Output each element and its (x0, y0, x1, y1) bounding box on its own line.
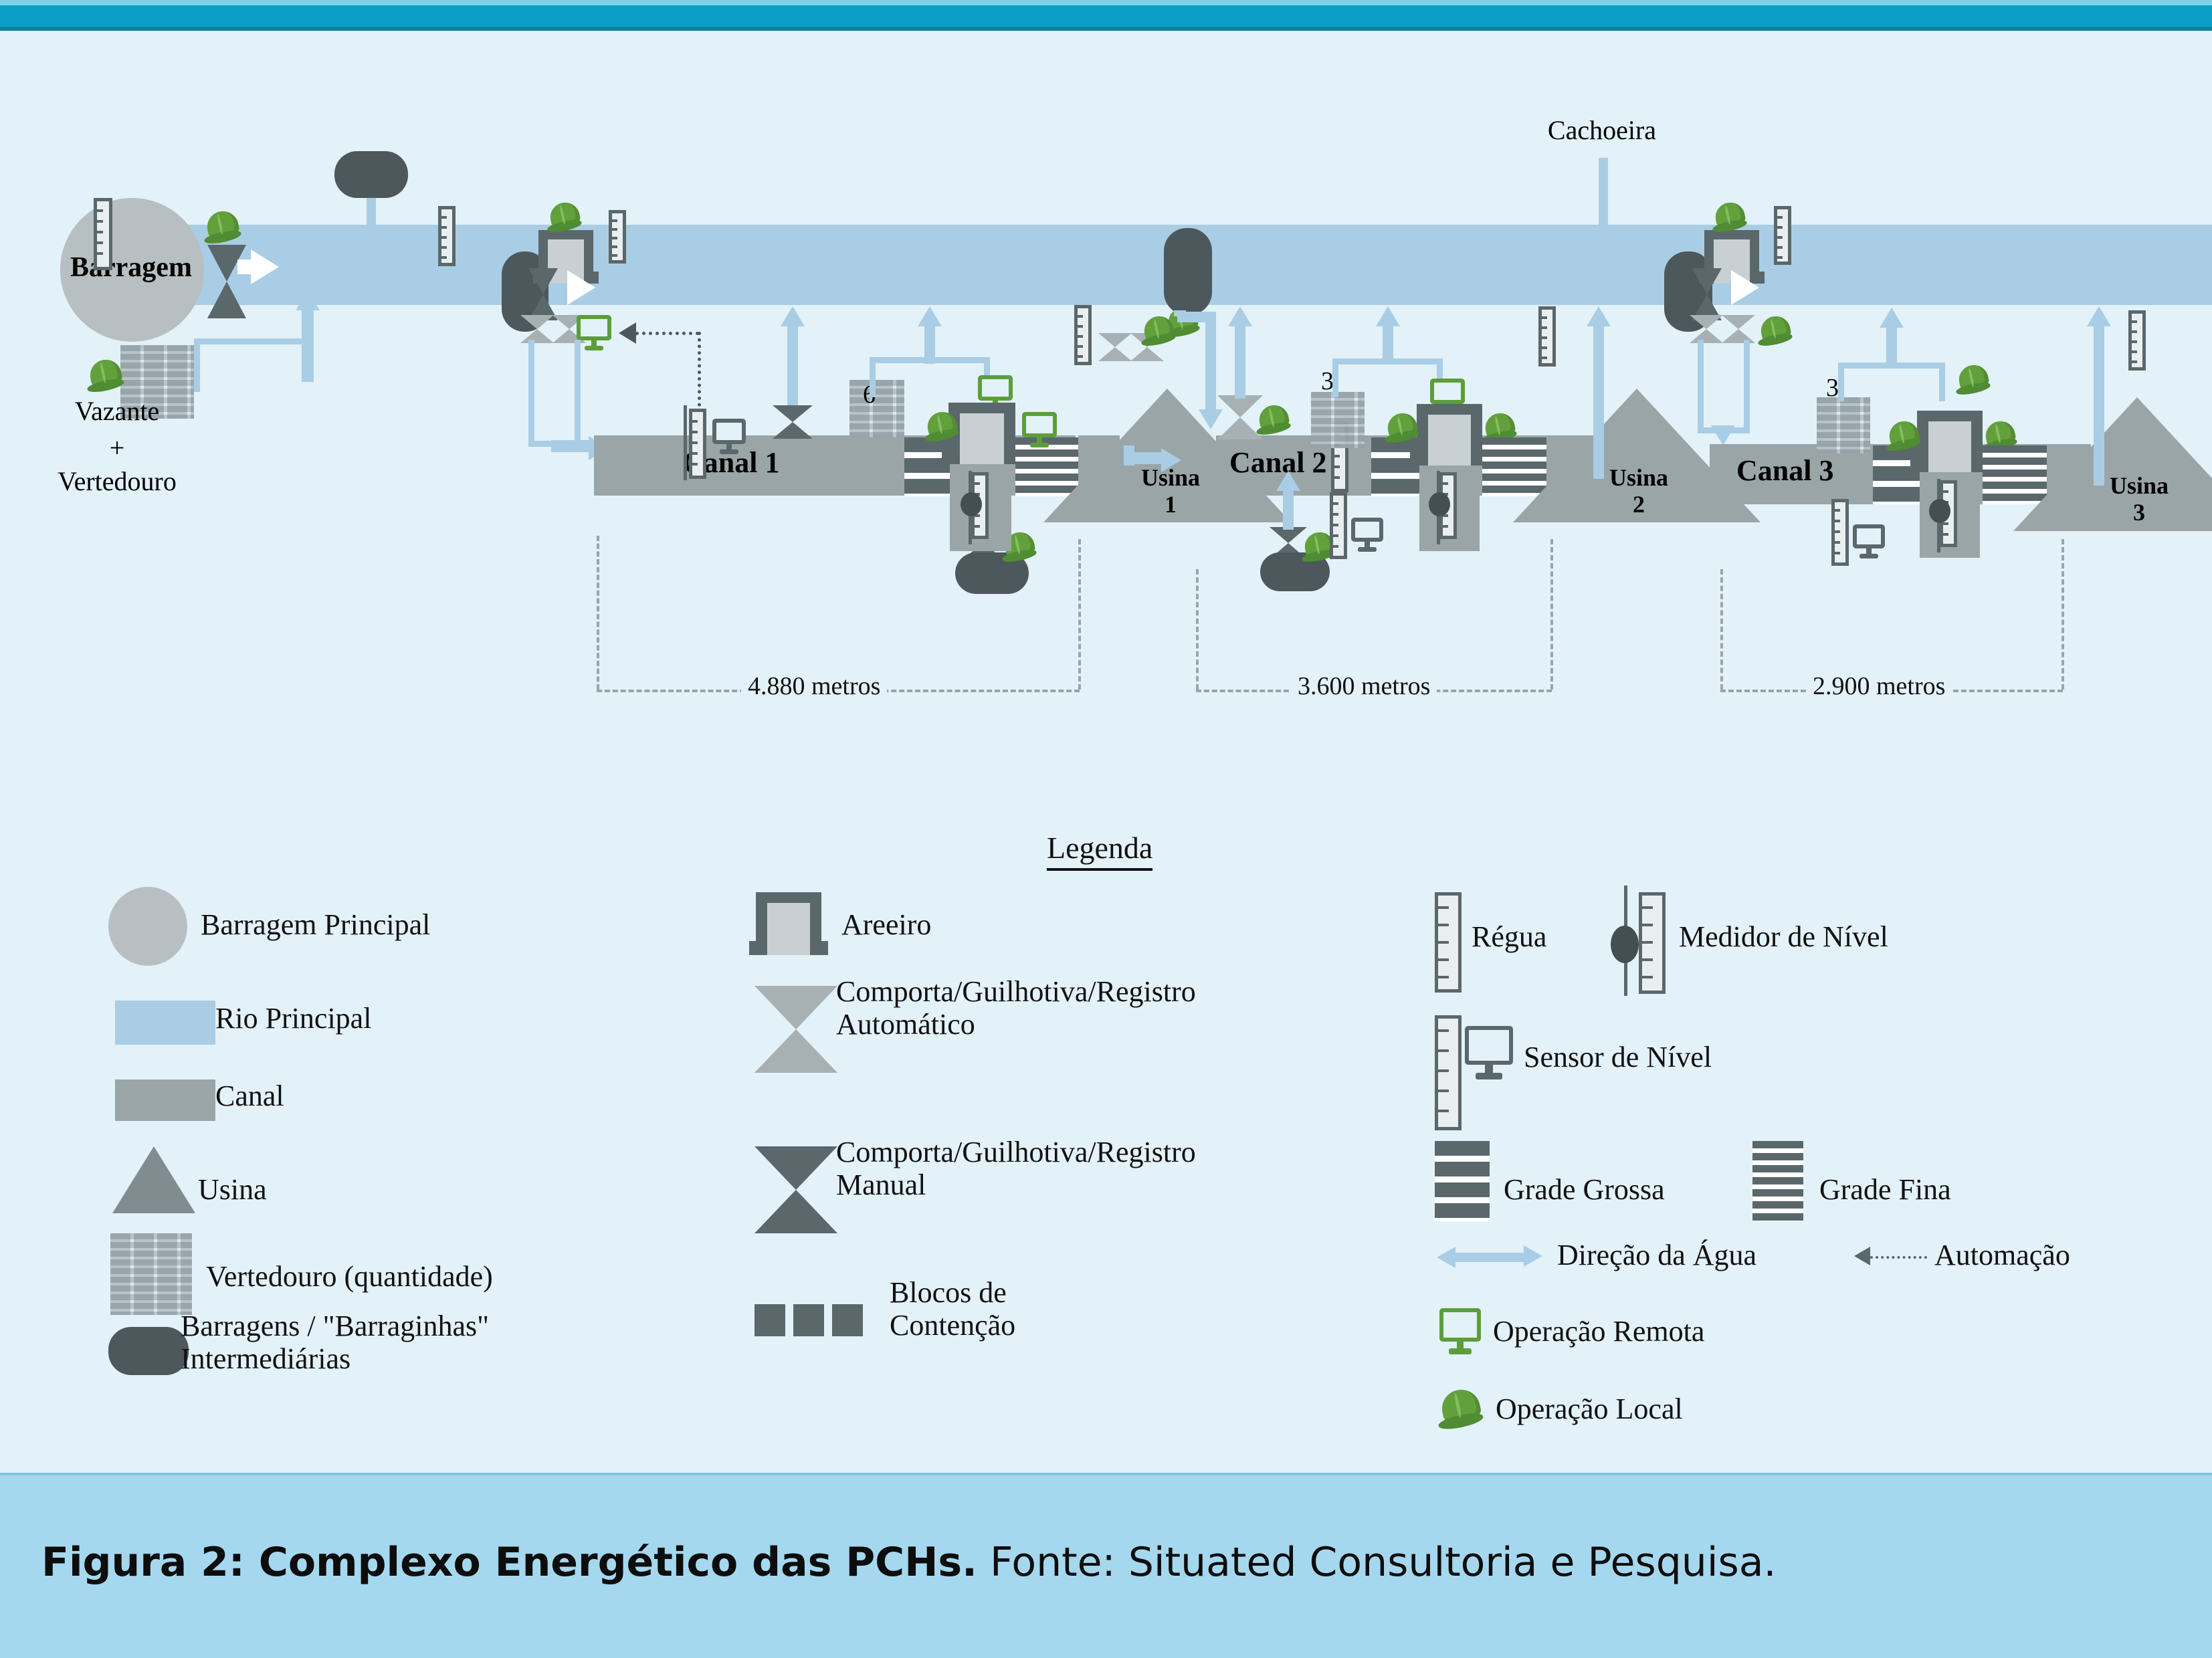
legend-title: Legenda (1047, 830, 1152, 871)
legend-item-label: Rio Principal (215, 1002, 371, 1035)
water-direction-line (924, 325, 935, 364)
water-direction-line (1235, 325, 1245, 399)
water-direction-arrow-icon (1880, 308, 1904, 328)
local-operation-helmet-icon (1886, 420, 1921, 451)
page-top-accent-bar (0, 0, 2212, 31)
ruler-icon (689, 409, 706, 479)
ruler-icon (438, 206, 456, 266)
level-sensor-icon (1853, 524, 1885, 559)
ruler-icon (1774, 206, 1791, 265)
water-direction-arrow-icon (2087, 306, 2111, 326)
local-operation-helmet-icon (1956, 364, 1991, 395)
dam-label: Barragem (70, 251, 192, 284)
legend-item-label: Sensor de Nível (1524, 1041, 1712, 1073)
automation-line (1870, 1256, 1927, 1259)
level-meter-icon (961, 492, 982, 516)
legend-item-label: Operação Local (1496, 1392, 1683, 1425)
legend-auto-gate-line1: Comporta/Guilhotiva/Registro (836, 975, 1196, 1008)
manual-gate-icon (1692, 268, 1722, 320)
water-direction-line (237, 260, 264, 274)
dimension-tick (2062, 539, 2064, 690)
level-meter-icon (1611, 926, 1639, 963)
manual-gate-icon (755, 1146, 837, 1233)
legend-item-label: Blocos de Contenção (890, 1276, 1358, 1342)
sand-trap-icon (1917, 411, 1983, 472)
automation-arrow-icon (1854, 1247, 1870, 1265)
water-direction-arrow-icon (1451, 1253, 1525, 1262)
ruler-icon (1538, 306, 1556, 367)
water-direction-arrow-icon (781, 306, 805, 326)
spillway-label-line3: Vertedouro (27, 465, 207, 497)
usina-2-name: Usina (1609, 464, 1668, 491)
intermediate-dam-icon (1164, 228, 1212, 315)
dimension-tick (1078, 539, 1081, 690)
spillway-label-line1: Vazante (40, 395, 194, 427)
water-direction-arrow-icon (1524, 1245, 1542, 1267)
legend-item-label: Direção da Água (1557, 1239, 1756, 1271)
ruler-icon (1330, 492, 1347, 559)
waterfall-label: Cachoeira (1492, 114, 1712, 146)
legend-item-label: Areeiro (841, 908, 931, 941)
legend-manual-gate-line1: Comporta/Guilhotiva/Registro (836, 1136, 1196, 1168)
local-operation-helmet-icon (1256, 404, 1291, 435)
legend-item-label: Vertedouro (quantidade) (206, 1260, 493, 1293)
water-direction-line (1177, 312, 1212, 322)
ruler-icon (94, 198, 112, 270)
containment-blocks-icon (832, 1304, 863, 1336)
plant-triangle-icon (112, 1146, 195, 1213)
level-sensor-icon (1465, 1026, 1513, 1081)
coarse-grid-icon (1371, 437, 1423, 496)
local-operation-helmet-icon (87, 358, 124, 392)
containment-blocks-icon (793, 1304, 824, 1336)
automatic-gate-icon (1098, 333, 1132, 361)
figure-caption: Figura 2: Complexo Energético das PCHs. … (41, 1539, 1777, 1586)
diagram-stage: Barragem Vazante + Vertedouro (0, 31, 2212, 1473)
canal-2-distance: 3.600 metros (1291, 671, 1437, 701)
manual-gate-icon (207, 245, 246, 318)
legend-blocks-line2: Contenção (890, 1309, 1015, 1342)
ruler-icon (1435, 892, 1462, 993)
legend-item-label: Automação (1934, 1239, 2070, 1271)
ruler-icon (1831, 499, 1849, 566)
water-direction-arrow-icon (918, 306, 942, 326)
spillway-pipe (1332, 358, 1443, 397)
canal-feed-line (551, 440, 591, 452)
dimension-tick (597, 536, 599, 690)
local-operation-helmet-icon (924, 411, 959, 441)
water-direction-arrow-icon (1437, 1247, 1455, 1268)
manual-gate-icon (528, 268, 558, 320)
water-direction-line (1383, 325, 1393, 364)
legend-item-label: Barragem Principal (201, 908, 430, 941)
water-direction-line (1205, 312, 1216, 412)
water-direction-arrow-icon (1276, 471, 1300, 491)
legend-item-label: Comporta/Guilhotiva/Registro Automático (836, 975, 1438, 1041)
dimension-tick (1720, 569, 1723, 690)
local-operation-helmet-icon (1438, 1388, 1484, 1429)
automation-line (635, 332, 699, 335)
local-operation-helmet-icon (547, 201, 582, 232)
water-direction-line (1886, 326, 1897, 365)
brick-wall-icon (1817, 397, 1870, 453)
local-operation-helmet-icon (1712, 201, 1747, 232)
level-meter-rod (684, 405, 687, 480)
sand-trap-icon (756, 892, 821, 955)
ruler-icon (1074, 305, 1092, 365)
sand-trap-icon (1417, 404, 1482, 465)
legend-item-label: Grade Grossa (1504, 1173, 1665, 1206)
spillway-label-line2: + (40, 432, 194, 463)
usina-3-name: Usina (2110, 472, 2169, 499)
fine-grid-icon (1752, 1141, 1803, 1221)
river-swatch-icon (115, 1001, 215, 1045)
legend-item-label: Usina (198, 1173, 267, 1206)
water-direction-arrow-icon (567, 270, 595, 305)
local-operation-helmet-icon (1385, 412, 1419, 443)
canal-3-distance: 2.900 metros (1806, 671, 1952, 701)
usina-2-number: 2 (1633, 491, 1645, 518)
spillway-return-pipe (194, 338, 308, 392)
water-direction-line (787, 325, 798, 405)
waterfall-line (1599, 158, 1608, 245)
canal-1-distance: 4.880 metros (741, 671, 887, 701)
remote-operation-monitor-icon (1439, 1308, 1481, 1356)
local-operation-helmet-icon (204, 210, 241, 243)
manual-gate-icon (773, 405, 813, 439)
canal-swatch-icon (115, 1079, 215, 1121)
water-direction-arrow-icon (1591, 241, 1615, 262)
canal-3-spillway-count: 3 (1826, 373, 1839, 403)
intermediate-dam-icon (334, 151, 408, 198)
figure-caption-source: Fonte: Situated Consultoria e Pesquisa. (977, 1539, 1777, 1586)
brick-wall-icon (1311, 392, 1365, 448)
dimension-tick (1550, 539, 1553, 690)
automatic-gate-icon (1722, 315, 1755, 343)
legend-item-label: Barragens / "Barraginhas" Intermediárias (181, 1310, 716, 1376)
ruler-icon (1639, 892, 1666, 994)
water-direction-arrow-icon (359, 249, 383, 269)
intake-pipe (528, 340, 581, 447)
level-sensor-icon (1351, 518, 1383, 552)
level-meter-icon (1929, 499, 1950, 523)
legend-item-label: Comporta/Guilhotiva/Registro Manual (836, 1136, 1438, 1202)
main-river (107, 225, 2212, 305)
water-direction-line (1593, 325, 1604, 479)
remote-operation-monitor-icon (577, 315, 611, 351)
legend-blocks-line1: Blocos de (890, 1276, 1007, 1309)
spillway-return-line (302, 308, 314, 382)
legend-item-label: Medidor de Nível (1679, 920, 1888, 953)
intermediate-dam-icon (108, 1327, 189, 1375)
usina-3-number: 3 (2133, 499, 2145, 526)
dam-circle-icon (108, 887, 187, 966)
brick-wall-icon (110, 1233, 192, 1315)
legend-intermediate-dam-line1: Barragens / "Barraginhas" (181, 1310, 489, 1342)
water-direction-line (1283, 488, 1294, 530)
legend-item-label: Canal (215, 1079, 284, 1112)
automation-arrow-icon (619, 322, 636, 344)
water-direction-arrow-icon (1228, 306, 1252, 326)
legend-manual-gate-line2: Manual (836, 1168, 926, 1201)
legend-item-label: Grade Fina (1819, 1173, 1951, 1206)
water-direction-line (1124, 445, 1134, 465)
water-direction-line (1134, 452, 1165, 464)
water-direction-line (2094, 325, 2104, 486)
water-direction-arrow-icon (1587, 306, 1611, 326)
local-operation-helmet-icon (1141, 315, 1176, 346)
spillway-pipe (1838, 362, 1945, 401)
legend-auto-gate-line2: Automático (836, 1008, 975, 1041)
usina-2-label: Usina 2 (1538, 464, 1739, 518)
canal-3-label: Canal 3 (1736, 453, 1833, 488)
figure-caption-bar: Figura 2: Complexo Energético das PCHs. … (0, 1473, 2212, 1658)
legend-item-label: Régua (1472, 920, 1546, 953)
intake-pipe (1698, 340, 1750, 433)
coarse-grid-icon (1435, 1141, 1490, 1221)
water-direction-arrow-icon (1731, 270, 1759, 305)
ruler-icon (2128, 310, 2146, 371)
inflow-line (367, 198, 376, 251)
level-sensor-icon (712, 419, 746, 455)
containment-blocks-icon (755, 1304, 785, 1336)
usina-1-number: 1 (1165, 491, 1177, 518)
water-direction-arrow-icon (1376, 306, 1400, 326)
water-direction-arrow-icon (296, 290, 320, 310)
ruler-icon (609, 210, 626, 264)
automatic-gate-icon (755, 986, 837, 1073)
water-direction-arrow-icon (1711, 425, 1735, 445)
legend-intermediate-dam-line2: Intermediárias (181, 1342, 350, 1375)
usina-3-label: Usina 3 (2039, 472, 2212, 526)
dimension-tick (1196, 569, 1199, 690)
automatic-gate-icon (1690, 315, 1723, 343)
local-operation-helmet-icon (1758, 315, 1793, 346)
ruler-icon (1435, 1015, 1462, 1130)
legend-item-label: Operação Remota (1493, 1315, 1704, 1348)
automatic-gate-icon (520, 315, 554, 343)
figure-caption-bold: Figura 2: Complexo Energético das PCHs. (41, 1539, 977, 1586)
level-meter-icon (1429, 492, 1450, 516)
